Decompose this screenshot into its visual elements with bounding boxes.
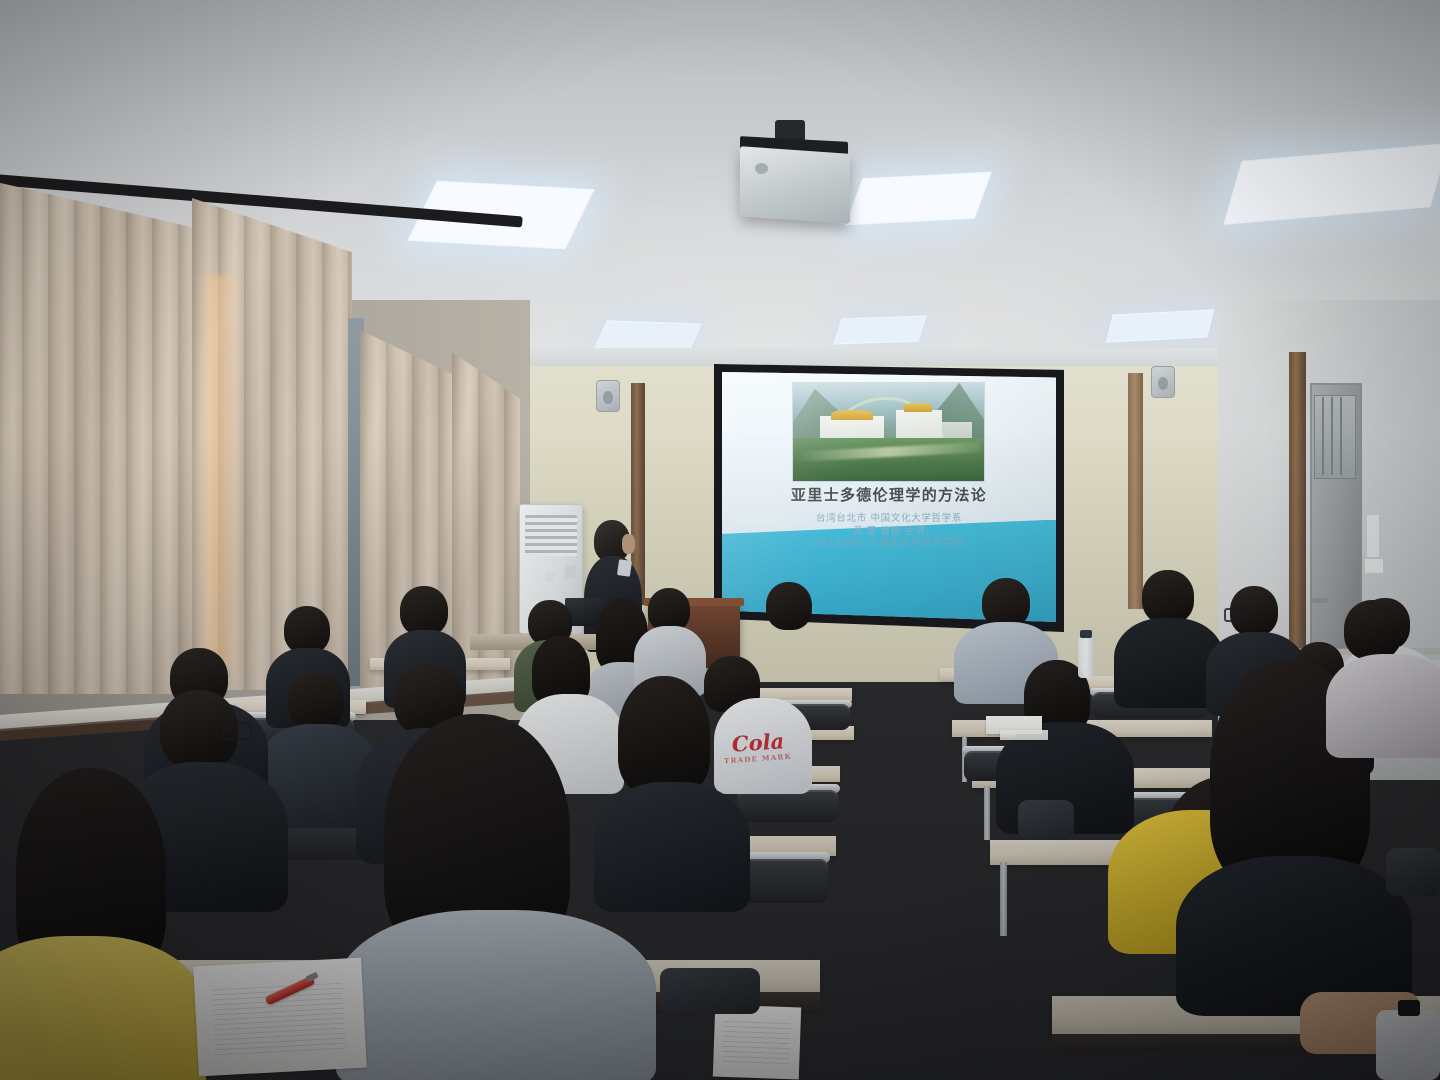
student-head <box>766 582 812 630</box>
slide-photo <box>792 382 984 482</box>
student-head <box>982 578 1030 628</box>
light-panel-6 <box>1106 309 1214 342</box>
wall-speaker-right <box>1151 366 1175 398</box>
wall-speaker-left <box>596 380 620 412</box>
light-switch-panel[interactable] <box>1364 558 1384 574</box>
backpack-left-floor <box>1018 800 1074 840</box>
ac-logo <box>546 572 555 582</box>
backpack-right-floor <box>1386 848 1440 896</box>
window-curtain-panel-1 <box>0 182 196 694</box>
student-torso <box>336 910 656 1080</box>
student-head <box>1344 600 1402 660</box>
slide-title: 亚里士多德伦理学的方法论 <box>722 486 1056 504</box>
light-panel-5 <box>833 316 926 345</box>
speaker-cone-icon <box>1158 377 1169 391</box>
door-window-bar <box>1322 397 1324 475</box>
ac-display-panel[interactable] <box>565 565 576 579</box>
speaker-cone-icon <box>603 391 614 405</box>
door-window-bar <box>1340 397 1342 475</box>
photo-building-left-roof <box>831 410 873 420</box>
slide-subtitle-line-1: 台湾台北市 中国文化大学哲学系 <box>722 513 1056 525</box>
door-handle[interactable] <box>1312 598 1328 603</box>
water-bottle-cap <box>1080 630 1092 638</box>
paper-text-lines <box>722 1021 791 1067</box>
water-bottle[interactable] <box>1078 636 1094 678</box>
student-head <box>288 672 344 730</box>
speaker-shirt-collar <box>617 559 632 577</box>
desk-leg <box>1000 862 1007 936</box>
student-head <box>400 586 448 636</box>
light-panel-4 <box>595 320 702 351</box>
door-window-bar <box>1331 397 1333 475</box>
projector <box>740 146 850 224</box>
student-torso <box>594 782 750 912</box>
student-sleeve <box>1376 1010 1440 1080</box>
chair-back <box>738 790 838 822</box>
tote-bag-center <box>660 968 760 1014</box>
speaker-face <box>622 534 635 554</box>
handout-paper-center <box>713 1005 801 1080</box>
slide-subtitle-line-2: 黄 藿 教授 主讲 <box>722 526 1056 538</box>
ac-vent-grille <box>525 515 577 556</box>
student-torso <box>0 936 206 1080</box>
wall-pillar-right <box>1128 373 1143 609</box>
eyeglasses <box>222 722 252 740</box>
curtain-light-streak <box>196 275 242 670</box>
student-head <box>284 606 330 654</box>
wall-pillar-far-right <box>1289 352 1306 652</box>
back-wall-upper-band <box>520 348 1220 366</box>
projector-lens-icon <box>755 163 768 174</box>
photo-building-right-roof <box>904 403 933 412</box>
student-torso <box>1326 654 1440 758</box>
desk-leg <box>984 786 990 840</box>
light-panel-2 <box>845 172 992 226</box>
lecture-hall-scene: 亚里士多德伦理学的方法论 台湾台北市 中国文化大学哲学系 黄 藿 教授 主讲 2… <box>0 0 1440 1080</box>
student-head <box>1142 570 1194 624</box>
wall-notice <box>1367 515 1379 557</box>
phone-device[interactable] <box>1398 1000 1420 1016</box>
eyeglasses <box>1224 608 1246 622</box>
handout-paper-left <box>193 958 367 1077</box>
slide-subtitle-line-3: 2018/9/5 于西北大学哲学学院 <box>722 538 1056 550</box>
door-window <box>1314 395 1356 479</box>
student-hair <box>618 676 710 794</box>
notebook-right-2 <box>1000 730 1048 740</box>
